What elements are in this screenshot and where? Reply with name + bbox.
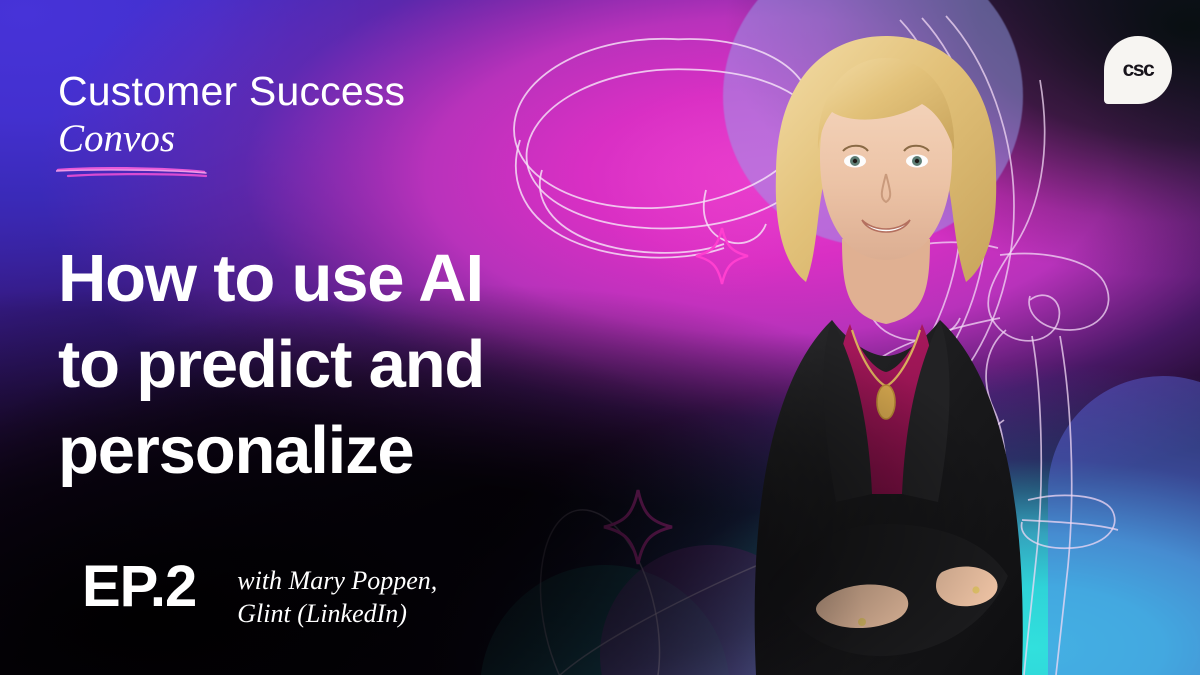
episode-number: EP.2	[82, 556, 196, 618]
episode-guest-line1: with Mary Poppen,	[237, 564, 437, 597]
episode-guest-line2: Glint (LinkedIn)	[237, 597, 437, 630]
headline-line3: personalize	[58, 408, 618, 494]
show-title-line2: Convos	[58, 116, 528, 162]
show-title: Customer Success Convos	[58, 68, 528, 162]
episode-headline: How to use AI to predict and personalize	[58, 236, 618, 494]
episode-info: EP.2 with Mary Poppen, Glint (LinkedIn)	[82, 556, 437, 630]
podcast-episode-cover: Customer Success Convos How to use AI to…	[0, 0, 1200, 675]
headline-line2: to predict and	[58, 322, 618, 408]
episode-guest: with Mary Poppen, Glint (LinkedIn)	[237, 556, 437, 630]
headline-line1: How to use AI	[58, 236, 618, 322]
show-title-line1: Customer Success	[58, 68, 528, 114]
logo-wordmark: csc	[1104, 36, 1172, 104]
csc-logo[interactable]: csc	[1104, 36, 1172, 104]
underline-swash	[56, 163, 231, 183]
